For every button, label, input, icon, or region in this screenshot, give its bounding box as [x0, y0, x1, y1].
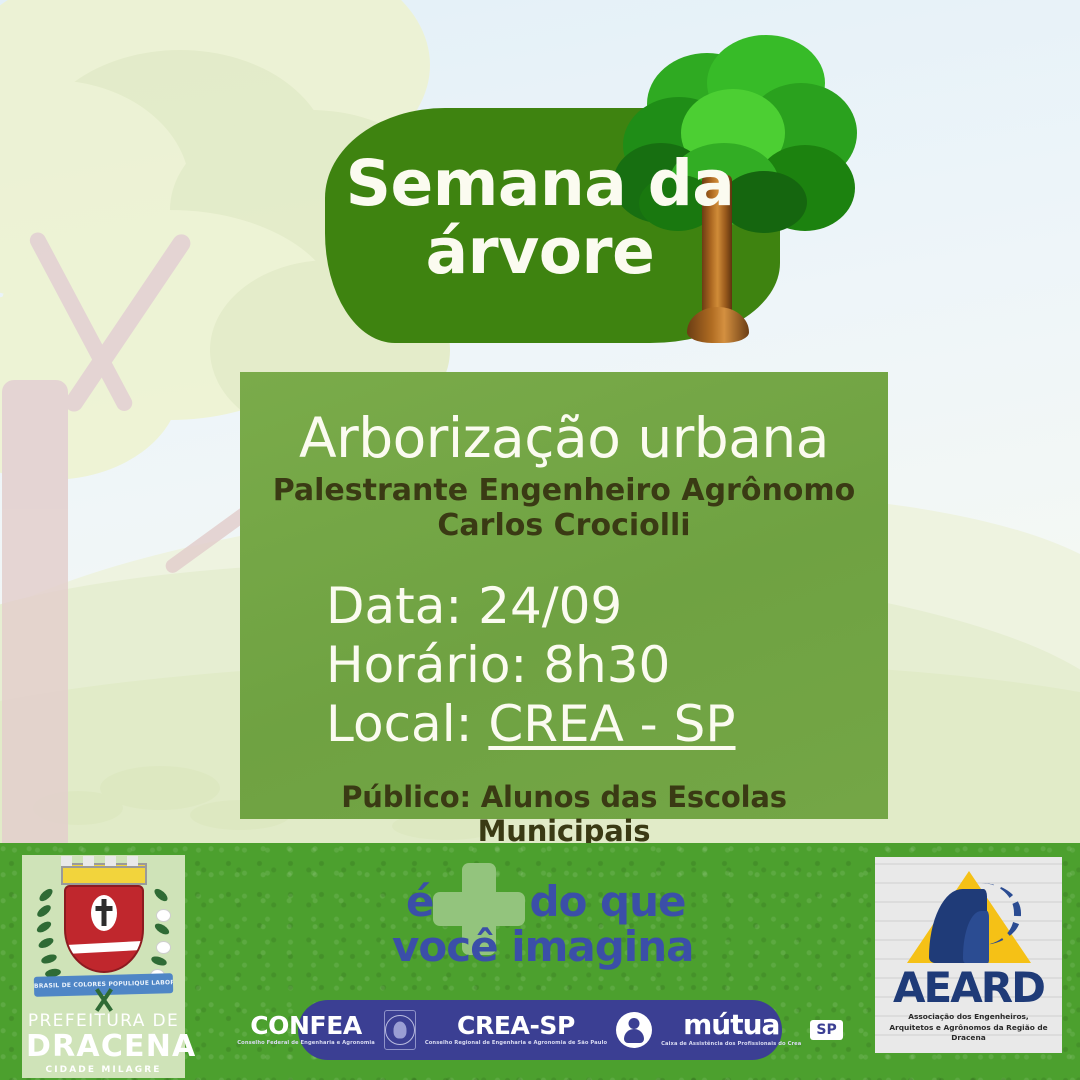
slogan-e: é — [406, 877, 434, 926]
aeard-mark-icon — [907, 871, 1031, 963]
city-name-label: DRACENA — [26, 1031, 181, 1063]
city-tagline: CIDADE MILAGRE — [26, 1065, 181, 1075]
speaker-line-1: Palestrante Engenheiro Agrônomo — [268, 474, 860, 508]
wreath-right-icon — [145, 889, 171, 981]
confea-name: CONFEA — [250, 1013, 362, 1038]
dracena-coat-of-arms: BRASIL DE COLORES POPULIQUE LABORES — [26, 859, 181, 1009]
time-label: Horário: — [326, 636, 527, 694]
aeard-acronym-text: AEARD — [893, 963, 1044, 1012]
aeard-subtitle: Associação dos Engenheiros, Arquitetos e… — [889, 1012, 1049, 1044]
place-value: CREA - SP — [488, 695, 735, 753]
slogan-do-que: do que — [530, 877, 686, 926]
confea-logo: CONFEA Conselho Federal de Engenharia e … — [237, 1013, 375, 1047]
crea-sp-logo: CREA-SP Conselho Regional de Engenharia … — [425, 1013, 607, 1047]
slogan-line-1: édo que — [406, 877, 686, 926]
speaker-line-2: Carlos Crociolli — [268, 509, 860, 543]
slogan-line-2: você imagina — [392, 922, 693, 971]
audience-note: Público: Alunos das Escolas Municipais — [268, 780, 860, 848]
prefeitura-dracena-logo: BRASIL DE COLORES POPULIQUE LABORES PREF… — [22, 855, 185, 1078]
crea-sp-subtitle: Conselho Regional de Engenharia e Agrono… — [425, 1040, 607, 1047]
wreath-left-icon — [36, 889, 62, 981]
headline-line-2: árvore — [330, 218, 750, 286]
confea-seal-icon — [384, 1010, 416, 1050]
mutua-logo: mútua Caixa de Assistência dos Profissio… — [661, 1011, 801, 1048]
shield-icon — [64, 885, 144, 973]
time-value: 8h30 — [543, 636, 670, 694]
headline-line-1: Semana da — [346, 147, 735, 220]
event-detail-list: Data: 24/09 Horário: 8h30 Local: CREA - … — [268, 577, 860, 754]
partners-logo-bar: CONFEA Conselho Federal de Engenharia e … — [298, 1000, 782, 1060]
slogan-block: édo que você imagina — [392, 865, 702, 970]
aeard-acronym: AEARD — [893, 967, 1044, 1009]
crea-sp-name: CREA-SP — [457, 1013, 575, 1038]
detail-time: Horário: 8h30 — [326, 636, 860, 695]
talk-title: Arborização urbana — [268, 410, 860, 468]
event-details-card: Arborização urbana Palestrante Engenheir… — [240, 372, 888, 819]
confea-subtitle: Conselho Federal de Engenharia e Agronom… — [237, 1040, 375, 1047]
date-value: 24/09 — [478, 577, 622, 635]
place-label: Local: — [326, 695, 472, 753]
page-title: Semana da árvore — [330, 150, 750, 286]
poster-root: Semana da árvore Arborização urbana Pale… — [0, 0, 1080, 1080]
aeard-logo: AEARD Associação dos Engenheiros, Arquit… — [875, 857, 1062, 1053]
detail-date: Data: 24/09 — [326, 577, 860, 636]
mutua-icon — [616, 1012, 652, 1048]
footer-band: BRASIL DE COLORES POPULIQUE LABORES PREF… — [0, 843, 1080, 1080]
detail-place: Local: CREA - SP — [326, 695, 860, 754]
date-label: Data: — [326, 577, 462, 635]
mutua-subtitle: Caixa de Assistência dos Profissionais d… — [661, 1041, 801, 1048]
crossed-tools-icon — [81, 989, 127, 1009]
mural-crown-icon — [61, 863, 147, 885]
prefeitura-label: PREFEITURA DE — [26, 1011, 181, 1031]
mutua-sp-chip: SP — [810, 1020, 842, 1040]
mutua-name: mútua — [683, 1011, 779, 1039]
